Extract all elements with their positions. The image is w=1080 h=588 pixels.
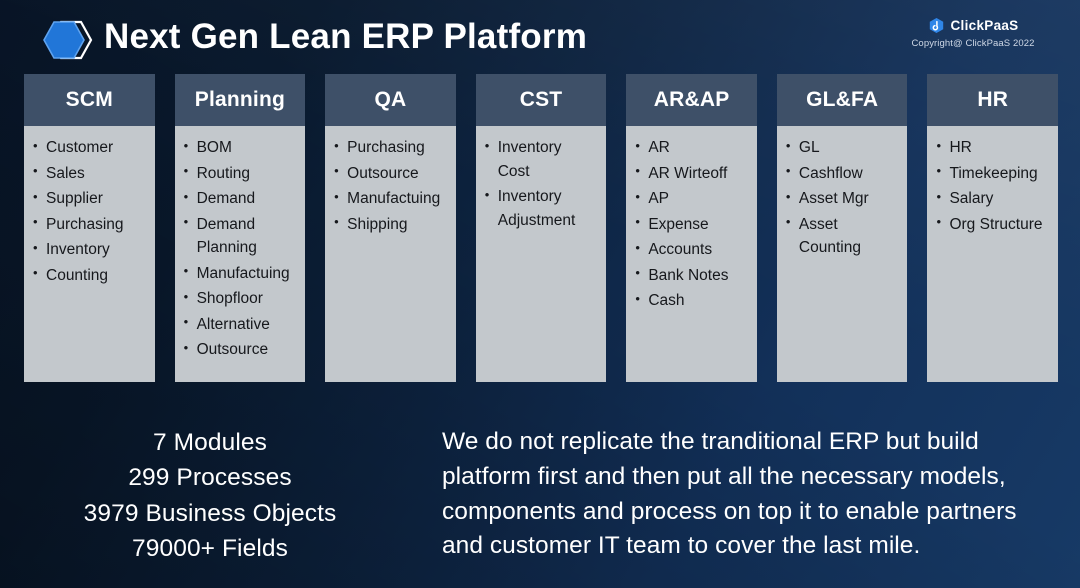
module-card[interactable]: SCMCustomerSalesSupplierPurchasingInvent…	[24, 74, 155, 382]
list-item[interactable]: Org Structure	[936, 213, 1048, 237]
module-card-title: HR	[977, 88, 1008, 112]
list-item[interactable]: Cash	[635, 289, 747, 313]
list-item[interactable]: AP	[635, 187, 747, 211]
list-item[interactable]: Salary	[936, 187, 1048, 211]
module-feature-list: ARAR WirteoffAPExpenseAccountsBank Notes…	[635, 136, 747, 313]
list-item[interactable]: Customer	[33, 136, 145, 160]
list-item[interactable]: Asset Counting	[786, 213, 898, 260]
page-title: Next Gen Lean ERP Platform	[104, 17, 587, 57]
module-card-body: CustomerSalesSupplierPurchasingInventory…	[24, 126, 155, 382]
list-item[interactable]: Manufactuing	[184, 262, 296, 286]
module-card-header: SCM	[24, 74, 155, 126]
module-card[interactable]: AR&APARAR WirteoffAPExpenseAccountsBank …	[626, 74, 757, 382]
list-item[interactable]: Outsource	[334, 162, 446, 186]
module-card-title: SCM	[66, 88, 113, 112]
module-feature-list: PurchasingOutsourceManufactuingShipping	[334, 136, 446, 236]
stats-line: 299 Processes	[0, 460, 420, 495]
slide-canvas: Next Gen Lean ERP Platform ClickPaaS Cop…	[0, 0, 1080, 588]
summary-section: 7 Modules299 Processes3979 Business Obje…	[0, 420, 1080, 588]
list-item[interactable]: Inventory Cost	[485, 136, 597, 183]
module-card[interactable]: QAPurchasingOutsourceManufactuingShippin…	[325, 74, 456, 382]
list-item[interactable]: Expense	[635, 213, 747, 237]
blurb-block: We do not replicate the tranditional ERP…	[420, 420, 1080, 588]
module-card[interactable]: HRHRTimekeepingSalaryOrg Structure	[927, 74, 1058, 382]
list-item[interactable]: AR	[635, 136, 747, 160]
list-item[interactable]: Demand Planning	[184, 213, 296, 260]
slide-header: Next Gen Lean ERP Platform ClickPaaS Cop…	[0, 0, 1080, 72]
module-card[interactable]: GL&FAGLCashflowAsset MgrAsset Counting	[777, 74, 908, 382]
stats-line: 79000+ Fields	[0, 531, 420, 566]
module-card-body: Inventory CostInventory Adjustment	[476, 126, 607, 382]
module-card-title: AR&AP	[654, 88, 730, 112]
module-card[interactable]: PlanningBOMRoutingDemandDemand PlanningM…	[175, 74, 306, 382]
module-card-header: AR&AP	[626, 74, 757, 126]
list-item[interactable]: AR Wirteoff	[635, 162, 747, 186]
list-item[interactable]: Accounts	[635, 238, 747, 262]
module-feature-list: Inventory CostInventory Adjustment	[485, 136, 597, 232]
module-feature-list: GLCashflowAsset MgrAsset Counting	[786, 136, 898, 260]
module-card-grid: SCMCustomerSalesSupplierPurchasingInvent…	[24, 74, 1058, 382]
list-item[interactable]: Manufactuing	[334, 187, 446, 211]
module-card-header: GL&FA	[777, 74, 908, 126]
module-card-body: PurchasingOutsourceManufactuingShipping	[325, 126, 456, 382]
list-item[interactable]: GL	[786, 136, 898, 160]
module-card-header: QA	[325, 74, 456, 126]
list-item[interactable]: Counting	[33, 264, 145, 288]
module-card-title: GL&FA	[806, 88, 878, 112]
stats-block: 7 Modules299 Processes3979 Business Obje…	[0, 420, 420, 588]
module-card-body: ARAR WirteoffAPExpenseAccountsBank Notes…	[626, 126, 757, 382]
list-item[interactable]: Routing	[184, 162, 296, 186]
list-item[interactable]: Inventory Adjustment	[485, 185, 597, 232]
list-item[interactable]: Alternative	[184, 313, 296, 337]
list-item[interactable]: Asset Mgr	[786, 187, 898, 211]
module-card-title: Planning	[195, 88, 285, 112]
list-item[interactable]: BOM	[184, 136, 296, 160]
list-item[interactable]: Bank Notes	[635, 264, 747, 288]
list-item[interactable]: Demand	[184, 187, 296, 211]
stats-line: 7 Modules	[0, 425, 420, 460]
list-item[interactable]: Inventory	[33, 238, 145, 262]
blurb-text: We do not replicate the tranditional ERP…	[442, 425, 1058, 564]
brand-block: ClickPaaS Copyright@ ClickPaaS 2022	[878, 16, 1068, 49]
module-card-title: CST	[520, 88, 563, 112]
module-card-header: HR	[927, 74, 1058, 126]
list-item[interactable]: Cashflow	[786, 162, 898, 186]
hexagon-logo-icon	[40, 18, 94, 66]
brand-name: ClickPaaS	[951, 18, 1019, 33]
module-feature-list: BOMRoutingDemandDemand PlanningManufactu…	[184, 136, 296, 362]
list-item[interactable]: HR	[936, 136, 1048, 160]
module-card[interactable]: CSTInventory CostInventory Adjustment	[476, 74, 607, 382]
list-item[interactable]: Shipping	[334, 213, 446, 237]
module-card-header: Planning	[175, 74, 306, 126]
list-item[interactable]: Shopfloor	[184, 287, 296, 311]
module-feature-list: CustomerSalesSupplierPurchasingInventory…	[33, 136, 145, 287]
module-feature-list: HRTimekeepingSalaryOrg Structure	[936, 136, 1048, 236]
list-item[interactable]: Sales	[33, 162, 145, 186]
module-card-body: BOMRoutingDemandDemand PlanningManufactu…	[175, 126, 306, 382]
list-item[interactable]: Supplier	[33, 187, 145, 211]
module-card-body: HRTimekeepingSalaryOrg Structure	[927, 126, 1058, 382]
module-card-body: GLCashflowAsset MgrAsset Counting	[777, 126, 908, 382]
list-item[interactable]: Purchasing	[33, 213, 145, 237]
list-item[interactable]: Purchasing	[334, 136, 446, 160]
list-item[interactable]: Outsource	[184, 338, 296, 362]
clickpaas-hexagon-icon	[928, 17, 945, 34]
list-item[interactable]: Timekeeping	[936, 162, 1048, 186]
stats-line: 3979 Business Objects	[0, 496, 420, 531]
copyright-text: Copyright@ ClickPaaS 2022	[878, 38, 1068, 49]
module-card-title: QA	[374, 88, 406, 112]
module-card-header: CST	[476, 74, 607, 126]
